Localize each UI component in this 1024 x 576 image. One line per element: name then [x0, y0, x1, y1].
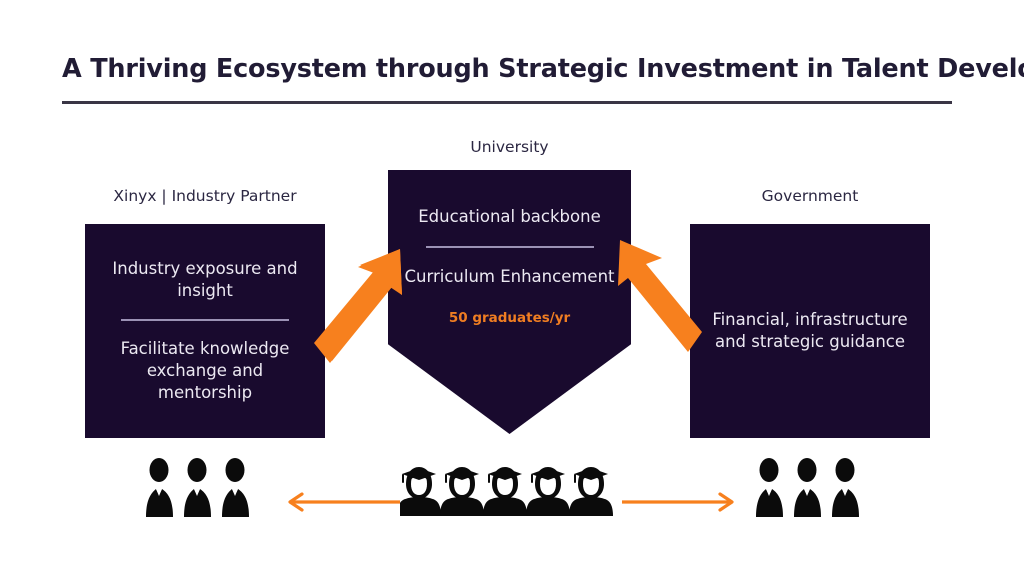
panel-center-bottom-text: Curriculum Enhancement — [402, 266, 617, 288]
page-title: A Thriving Ecosystem through Strategic I… — [62, 54, 962, 84]
panel-center-divider — [426, 246, 594, 248]
title-divider — [62, 101, 952, 104]
column-caption-right: Government — [690, 187, 930, 205]
arrow-up-left-icon — [613, 234, 708, 367]
business-people-icon — [753, 455, 868, 525]
arrow-left-icon — [282, 492, 402, 512]
panel-left-divider — [121, 319, 289, 321]
panel-left-top-text: Industry exposure and insight — [100, 258, 310, 302]
panel-right-text: Financial, infrastructure and strategic … — [705, 309, 915, 353]
business-people-icon — [143, 455, 258, 525]
graduates-per-year-metric: 50 graduates/yr — [430, 310, 590, 327]
panel-left-bottom-text: Facilitate knowledge exchange and mentor… — [100, 338, 310, 404]
panel-center-top-text: Educational backbone — [402, 206, 617, 228]
panel-industry-partner: Industry exposure and insight Facilitate… — [85, 224, 325, 438]
shield-content: Educational backbone Curriculum Enhancem… — [388, 170, 631, 434]
panel-government: Financial, infrastructure and strategic … — [690, 224, 930, 438]
arrow-up-right-icon — [312, 243, 407, 376]
slide-canvas: A Thriving Ecosystem through Strategic I… — [0, 0, 1024, 576]
panel-university: Educational backbone Curriculum Enhancem… — [388, 170, 631, 434]
graduates-icon — [400, 462, 615, 524]
arrow-right-icon — [620, 492, 740, 512]
column-caption-center: University — [388, 138, 631, 156]
column-caption-left: Xinyx | Industry Partner — [85, 187, 325, 205]
